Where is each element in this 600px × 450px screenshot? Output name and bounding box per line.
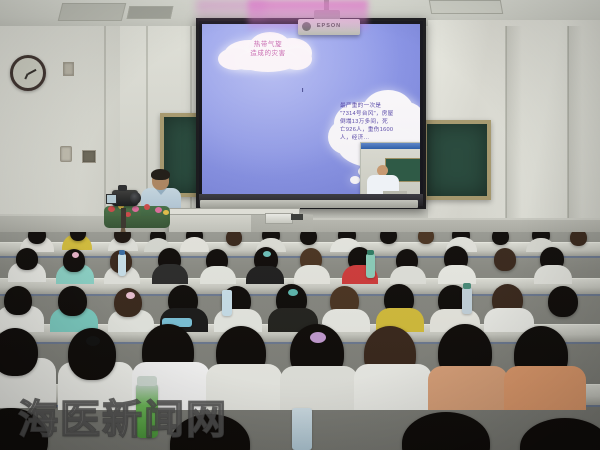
ceiling-vent xyxy=(58,3,126,21)
student-shoulders xyxy=(484,308,534,332)
student-shoulders xyxy=(246,266,284,284)
student-head xyxy=(170,414,250,450)
slide-title-cloud: 热带气旋 造成的灾害 xyxy=(218,30,314,74)
slide-title-line1: 热带气旋 xyxy=(230,40,306,49)
camera-lens-icon xyxy=(130,192,141,204)
student-head xyxy=(4,286,32,315)
hair-accessory xyxy=(288,289,298,296)
hair-tie xyxy=(310,332,326,343)
slide-body-line: 亡926人，重伤1600 xyxy=(340,126,414,134)
flower-petal xyxy=(155,207,162,213)
student-head xyxy=(0,408,48,450)
camera-flip-screen xyxy=(106,194,117,204)
bottle-cap xyxy=(463,283,471,289)
student-head xyxy=(520,418,600,450)
audience-seating xyxy=(0,232,600,450)
water-bottle xyxy=(136,384,158,438)
bottle-cap xyxy=(119,250,125,255)
water-bottle xyxy=(222,290,232,316)
student-head xyxy=(300,232,317,245)
bottle-cap xyxy=(367,250,374,255)
right-wall-chalkboard xyxy=(423,120,491,200)
lecture-hall-photo: 热带气旋 造成的灾害 I 最严重的一次是 "7314号台风"，房屋 倒塌13万多… xyxy=(0,0,600,450)
cloud-tail-bubble xyxy=(350,176,360,184)
wall-clock xyxy=(10,55,46,91)
ceiling-vent xyxy=(127,6,174,19)
wall-outlet-icon[interactable] xyxy=(82,150,96,163)
student-shoulders xyxy=(200,266,236,284)
student-head xyxy=(492,232,509,245)
wall-switch-icon[interactable] xyxy=(60,146,72,162)
water-bottle xyxy=(366,254,375,278)
slide-text-cursor: I xyxy=(302,88,303,94)
student-shoulders xyxy=(294,265,330,284)
student-head xyxy=(418,232,434,244)
student-head xyxy=(402,412,490,450)
student-shoulders xyxy=(390,266,426,284)
student-shoulders xyxy=(438,265,476,284)
hair-accessory xyxy=(263,251,271,257)
podium-laptop[interactable] xyxy=(265,213,293,224)
screen-tray xyxy=(200,200,418,208)
water-bottle xyxy=(462,288,472,314)
student-shoulders xyxy=(152,264,188,284)
slide-body-line: "7314号台风"，房屋 xyxy=(340,110,414,118)
hair-accessory xyxy=(72,252,79,258)
slide-inset-video[interactable] xyxy=(360,142,420,194)
camera-handle xyxy=(118,185,127,191)
student-head xyxy=(16,248,38,270)
clock-minute-hand xyxy=(25,73,29,79)
slide-body-line: 最严重的一次是 xyxy=(340,102,414,110)
speaker-hair xyxy=(151,169,170,180)
student-head xyxy=(226,232,242,246)
flower-petal xyxy=(163,210,169,215)
ceiling-vent xyxy=(429,0,503,14)
student-shoulders xyxy=(354,364,432,410)
slide-body-line: 倒塌13万多间，死 xyxy=(340,118,414,126)
slide-title-line2: 造成的灾害 xyxy=(230,49,306,58)
student-shoulders xyxy=(180,237,209,252)
student-shoulders xyxy=(534,265,572,284)
hair-accessory xyxy=(126,292,135,299)
student-shoulders xyxy=(504,366,586,410)
wall-switch-upper[interactable] xyxy=(63,62,74,76)
flower-petal xyxy=(144,204,150,210)
hair-tie xyxy=(86,336,100,346)
student-shoulders xyxy=(206,364,282,410)
bottle-cap xyxy=(137,376,157,386)
projector-light-spill xyxy=(248,0,368,30)
projection-screen: 热带气旋 造成的灾害 I 最严重的一次是 "7314号台风"，房屋 倒塌13万多… xyxy=(196,18,426,209)
student-shoulders xyxy=(280,366,358,410)
slide-body-line: 人，经济… xyxy=(340,134,414,142)
water-bottle xyxy=(118,254,126,276)
student-shoulders xyxy=(428,366,508,410)
student-head xyxy=(570,232,587,246)
slide-body-text: 最严重的一次是 "7314号台风"，房屋 倒塌13万多间，死 亡926人，重伤1… xyxy=(340,102,414,142)
tripod-column xyxy=(121,208,126,228)
slide-title-text: 热带气旋 造成的灾害 xyxy=(230,40,306,58)
water-bottle xyxy=(292,408,312,450)
flower-petal xyxy=(132,206,139,212)
podium-device[interactable] xyxy=(291,214,303,220)
video-frame xyxy=(361,149,420,194)
projector-light-spill xyxy=(196,0,266,24)
student-head xyxy=(548,286,578,317)
video-podium xyxy=(383,191,407,194)
student-head xyxy=(0,328,38,376)
slide-surface: 热带气旋 造成的灾害 I 最严重的一次是 "7314号台风"，房屋 倒塌13万多… xyxy=(202,24,420,194)
student-head xyxy=(494,248,516,271)
student-head xyxy=(58,286,87,316)
flower-petal xyxy=(108,206,115,212)
